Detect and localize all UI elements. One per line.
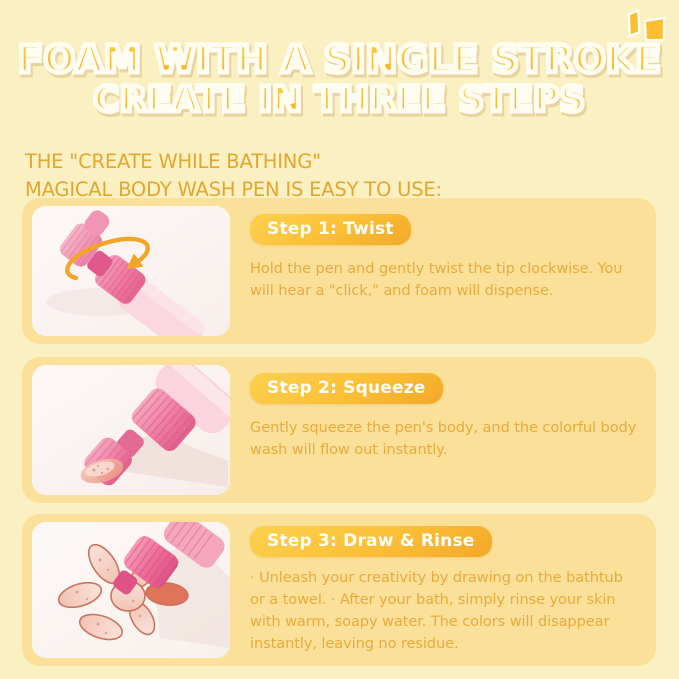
title-line-2: CREATE IN THREE STEPS (0, 80, 679, 120)
step-3-image (32, 522, 230, 658)
step-2-image (32, 365, 230, 495)
step-card-1: Step 1: Twist Hold the pen and gently tw… (22, 198, 656, 344)
step-1-image (32, 206, 230, 336)
step-card-2: Step 2: Squeeze Gently squeeze the pen's… (22, 357, 656, 503)
step-2-badge: Step 2: Squeeze (250, 373, 443, 404)
step-1-content: Step 1: Twist Hold the pen and gently tw… (250, 214, 642, 302)
step-1-body: Hold the pen and gently twist the tip cl… (250, 258, 642, 302)
step-3-body: · Unleash your creativity by drawing on … (250, 567, 642, 655)
step-1-badge: Step 1: Twist (250, 214, 411, 245)
step-2-content: Step 2: Squeeze Gently squeeze the pen's… (250, 373, 642, 461)
page-title: FOAM WITH A SINGLE STROKE CREATE IN THRE… (0, 40, 679, 120)
step-card-3: Step 3: Draw & Rinse · Unleash your crea… (22, 514, 656, 666)
subtitle-line-1: THE "CREATE WHILE BATHING" (25, 148, 645, 176)
step-2-body: Gently squeeze the pen's body, and the c… (250, 417, 642, 461)
title-line-1: FOAM WITH A SINGLE STROKE (0, 40, 679, 80)
subtitle: THE "CREATE WHILE BATHING" MAGICAL BODY … (25, 148, 645, 204)
step-3-badge: Step 3: Draw & Rinse (250, 526, 492, 557)
step-3-content: Step 3: Draw & Rinse · Unleash your crea… (250, 526, 642, 655)
